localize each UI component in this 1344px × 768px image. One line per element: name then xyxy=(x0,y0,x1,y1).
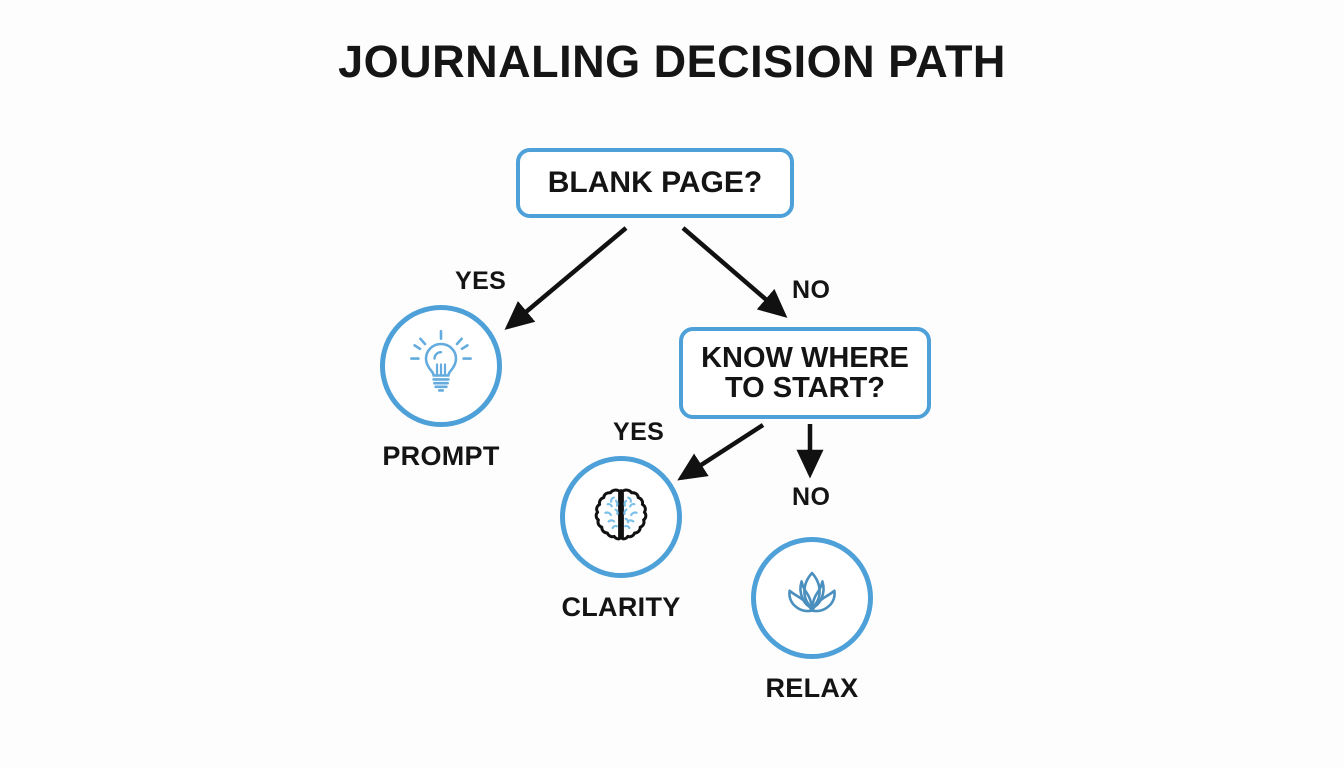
outcome-node-clarity[interactable]: CLARITY xyxy=(541,456,701,623)
outcome-circle xyxy=(751,537,873,659)
outcome-circle xyxy=(380,305,502,427)
decision-label: BLANK PAGE? xyxy=(548,167,762,199)
edge-label-know-yes: YES xyxy=(613,418,664,447)
diagram-canvas: JOURNALING DECISION PATH BLANK PAGE? KNO… xyxy=(0,0,1344,768)
lightbulb-icon xyxy=(404,327,478,406)
outcome-label: RELAX xyxy=(765,673,858,704)
lotus-icon xyxy=(774,565,850,632)
page-title: JOURNALING DECISION PATH xyxy=(0,36,1344,88)
edge-label-blank-yes: YES xyxy=(455,267,506,296)
outcome-circle xyxy=(560,456,682,578)
decision-label: KNOW WHERE TO START? xyxy=(701,343,909,404)
edge-label-blank-no: NO xyxy=(792,276,830,305)
arrow-blank-no xyxy=(683,228,784,315)
arrow-blank-yes xyxy=(508,228,626,327)
outcome-label: CLARITY xyxy=(561,592,680,623)
outcome-label: PROMPT xyxy=(382,441,499,472)
decision-box-blank-page[interactable]: BLANK PAGE? xyxy=(516,148,794,218)
edge-label-know-no: NO xyxy=(792,483,830,512)
outcome-node-relax[interactable]: RELAX xyxy=(732,537,892,704)
brain-icon xyxy=(590,484,652,551)
arrow-layer xyxy=(0,0,1344,768)
decision-box-know-where-to-start[interactable]: KNOW WHERE TO START? xyxy=(679,327,931,419)
outcome-node-prompt[interactable]: PROMPT xyxy=(361,305,521,472)
